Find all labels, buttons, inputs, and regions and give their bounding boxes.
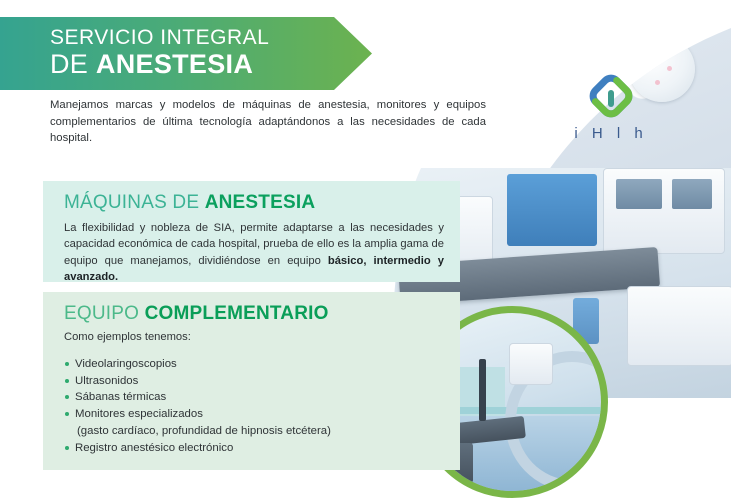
banner-line-2-thin: DE <box>50 49 96 79</box>
microscope-arm <box>479 359 486 421</box>
brand-logo: i H l h <box>556 74 666 142</box>
ihlh-diamond-logo-icon <box>589 74 633 118</box>
lamp-arm <box>496 3 516 40</box>
surgical-lamp-icon <box>541 8 597 64</box>
header-banner: SERVICIO INTEGRAL DE ANESTESIA <box>0 17 372 90</box>
banner-line-2: DE ANESTESIA <box>50 50 372 79</box>
card-title-strong: ANESTESIA <box>205 192 316 213</box>
card-title-strong: COMPLEMENTARIO <box>145 303 329 324</box>
anesthesia-workstation <box>603 168 725 254</box>
list-item: Videolaringoscopios <box>64 356 446 373</box>
infographic-page: SERVICIO INTEGRAL DE ANESTESIA Manejamos… <box>0 0 731 500</box>
side-cabinet <box>627 286 731 366</box>
card-lead-equipo: Como ejemplos tenemos: <box>64 331 446 343</box>
card-maquinas-anestesia: MÁQUINAS DE ANESTESIA La flexibilidad y … <box>43 181 460 282</box>
card-equipo-complementario: EQUIPO COMPLEMENTARIO Como ejemplos tene… <box>43 292 460 470</box>
c-arm-head <box>509 343 553 385</box>
logo-wordmark: i H l h <box>556 125 666 142</box>
card-title-equipo: EQUIPO COMPLEMENTARIO <box>64 303 446 325</box>
lamp-arm <box>597 24 623 64</box>
lamp-arm <box>684 0 699 31</box>
banner-line-2-bold: ANESTESIA <box>96 49 253 79</box>
card-title-light: EQUIPO <box>64 303 145 324</box>
list-item: Ultrasonidos <box>64 373 446 390</box>
surgical-lamp-icon <box>429 26 491 88</box>
intro-paragraph: Manejamos marcas y modelos de máquinas d… <box>50 97 486 147</box>
list-item: Monitores especializados <box>64 406 446 423</box>
list-item-sub: (gasto cardíaco, profundidad de hipnosis… <box>64 423 446 440</box>
equipment-list: Videolaringoscopios Ultrasonidos Sábanas… <box>64 356 446 457</box>
banner-line-1: SERVICIO INTEGRAL <box>50 27 372 49</box>
card-title-anestesia: MÁQUINAS DE ANESTESIA <box>64 192 446 214</box>
card-title-light: MÁQUINAS DE <box>64 192 205 213</box>
list-item: Sábanas térmicas <box>64 389 446 406</box>
list-item: Registro anestésico electrónico <box>64 440 446 457</box>
blue-equipment-panel <box>507 174 597 246</box>
card-body-anestesia: La flexibilidad y nobleza de SIA, permit… <box>64 220 444 285</box>
